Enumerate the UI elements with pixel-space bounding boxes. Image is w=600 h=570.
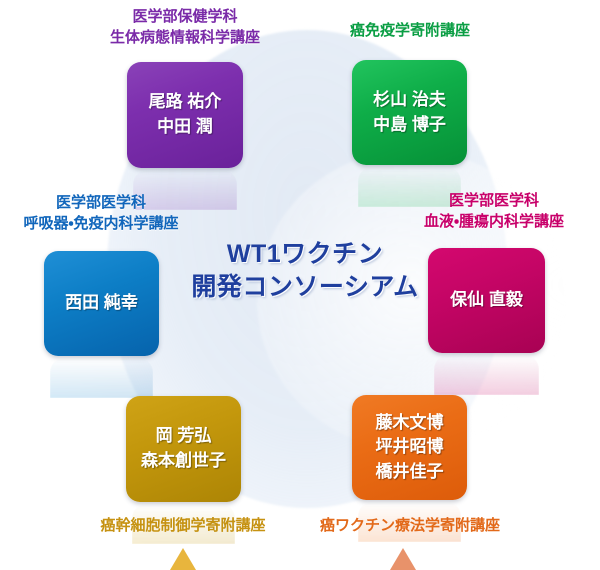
page-title: WT1ワクチン 開発コンソーシアム	[170, 238, 440, 305]
member-name: 尾路 祐介	[149, 90, 222, 115]
member-name: 橋井佳子	[376, 460, 444, 485]
member-name: 西田 純幸	[65, 291, 138, 316]
node-reflection-orange	[358, 502, 461, 542]
node-label-blue: 医学部医学科 呼吸器・免疫内科学講座	[0, 192, 216, 235]
node-box-purple[interactable]: 尾路 祐介 中田 潤	[127, 62, 243, 168]
member-name: 森本創世子	[141, 449, 226, 474]
node-box-magenta[interactable]: 保仙 直毅	[428, 248, 545, 353]
member-name: 中島 博子	[373, 113, 446, 138]
node-box-gold[interactable]: 岡 芳弘 森本創世子	[126, 396, 241, 502]
member-name: 保仙 直毅	[450, 288, 523, 313]
node-reflection-magenta	[434, 355, 539, 395]
member-name: 岡 芳弘	[156, 424, 212, 449]
node-box-blue[interactable]: 西田 純幸	[44, 251, 159, 356]
triangle-marker-icon	[390, 548, 416, 570]
member-name: 藤木文博	[376, 411, 444, 436]
node-label-magenta: 医学部医学科 血液・腫瘍内科学講座	[394, 190, 594, 233]
node-box-orange[interactable]: 藤木文博 坪井昭博 橋井佳子	[352, 395, 467, 500]
triangle-marker-icon	[170, 548, 196, 570]
node-label-green: 癌免疫学寄附講座	[300, 20, 520, 41]
member-name: 坪井昭博	[376, 435, 444, 460]
node-reflection-gold	[132, 504, 235, 544]
member-name: 中田 潤	[157, 115, 213, 140]
node-reflection-blue	[50, 358, 153, 398]
member-name: 杉山 治夫	[373, 88, 446, 113]
node-box-green[interactable]: 杉山 治夫 中島 博子	[352, 60, 467, 165]
node-label-purple: 医学部保健学科 生体病態情報科学講座	[55, 6, 315, 49]
consortium-diagram: WT1ワクチン 開発コンソーシアム 医学部保健学科 生体病態情報科学講座 尾路 …	[0, 0, 600, 570]
